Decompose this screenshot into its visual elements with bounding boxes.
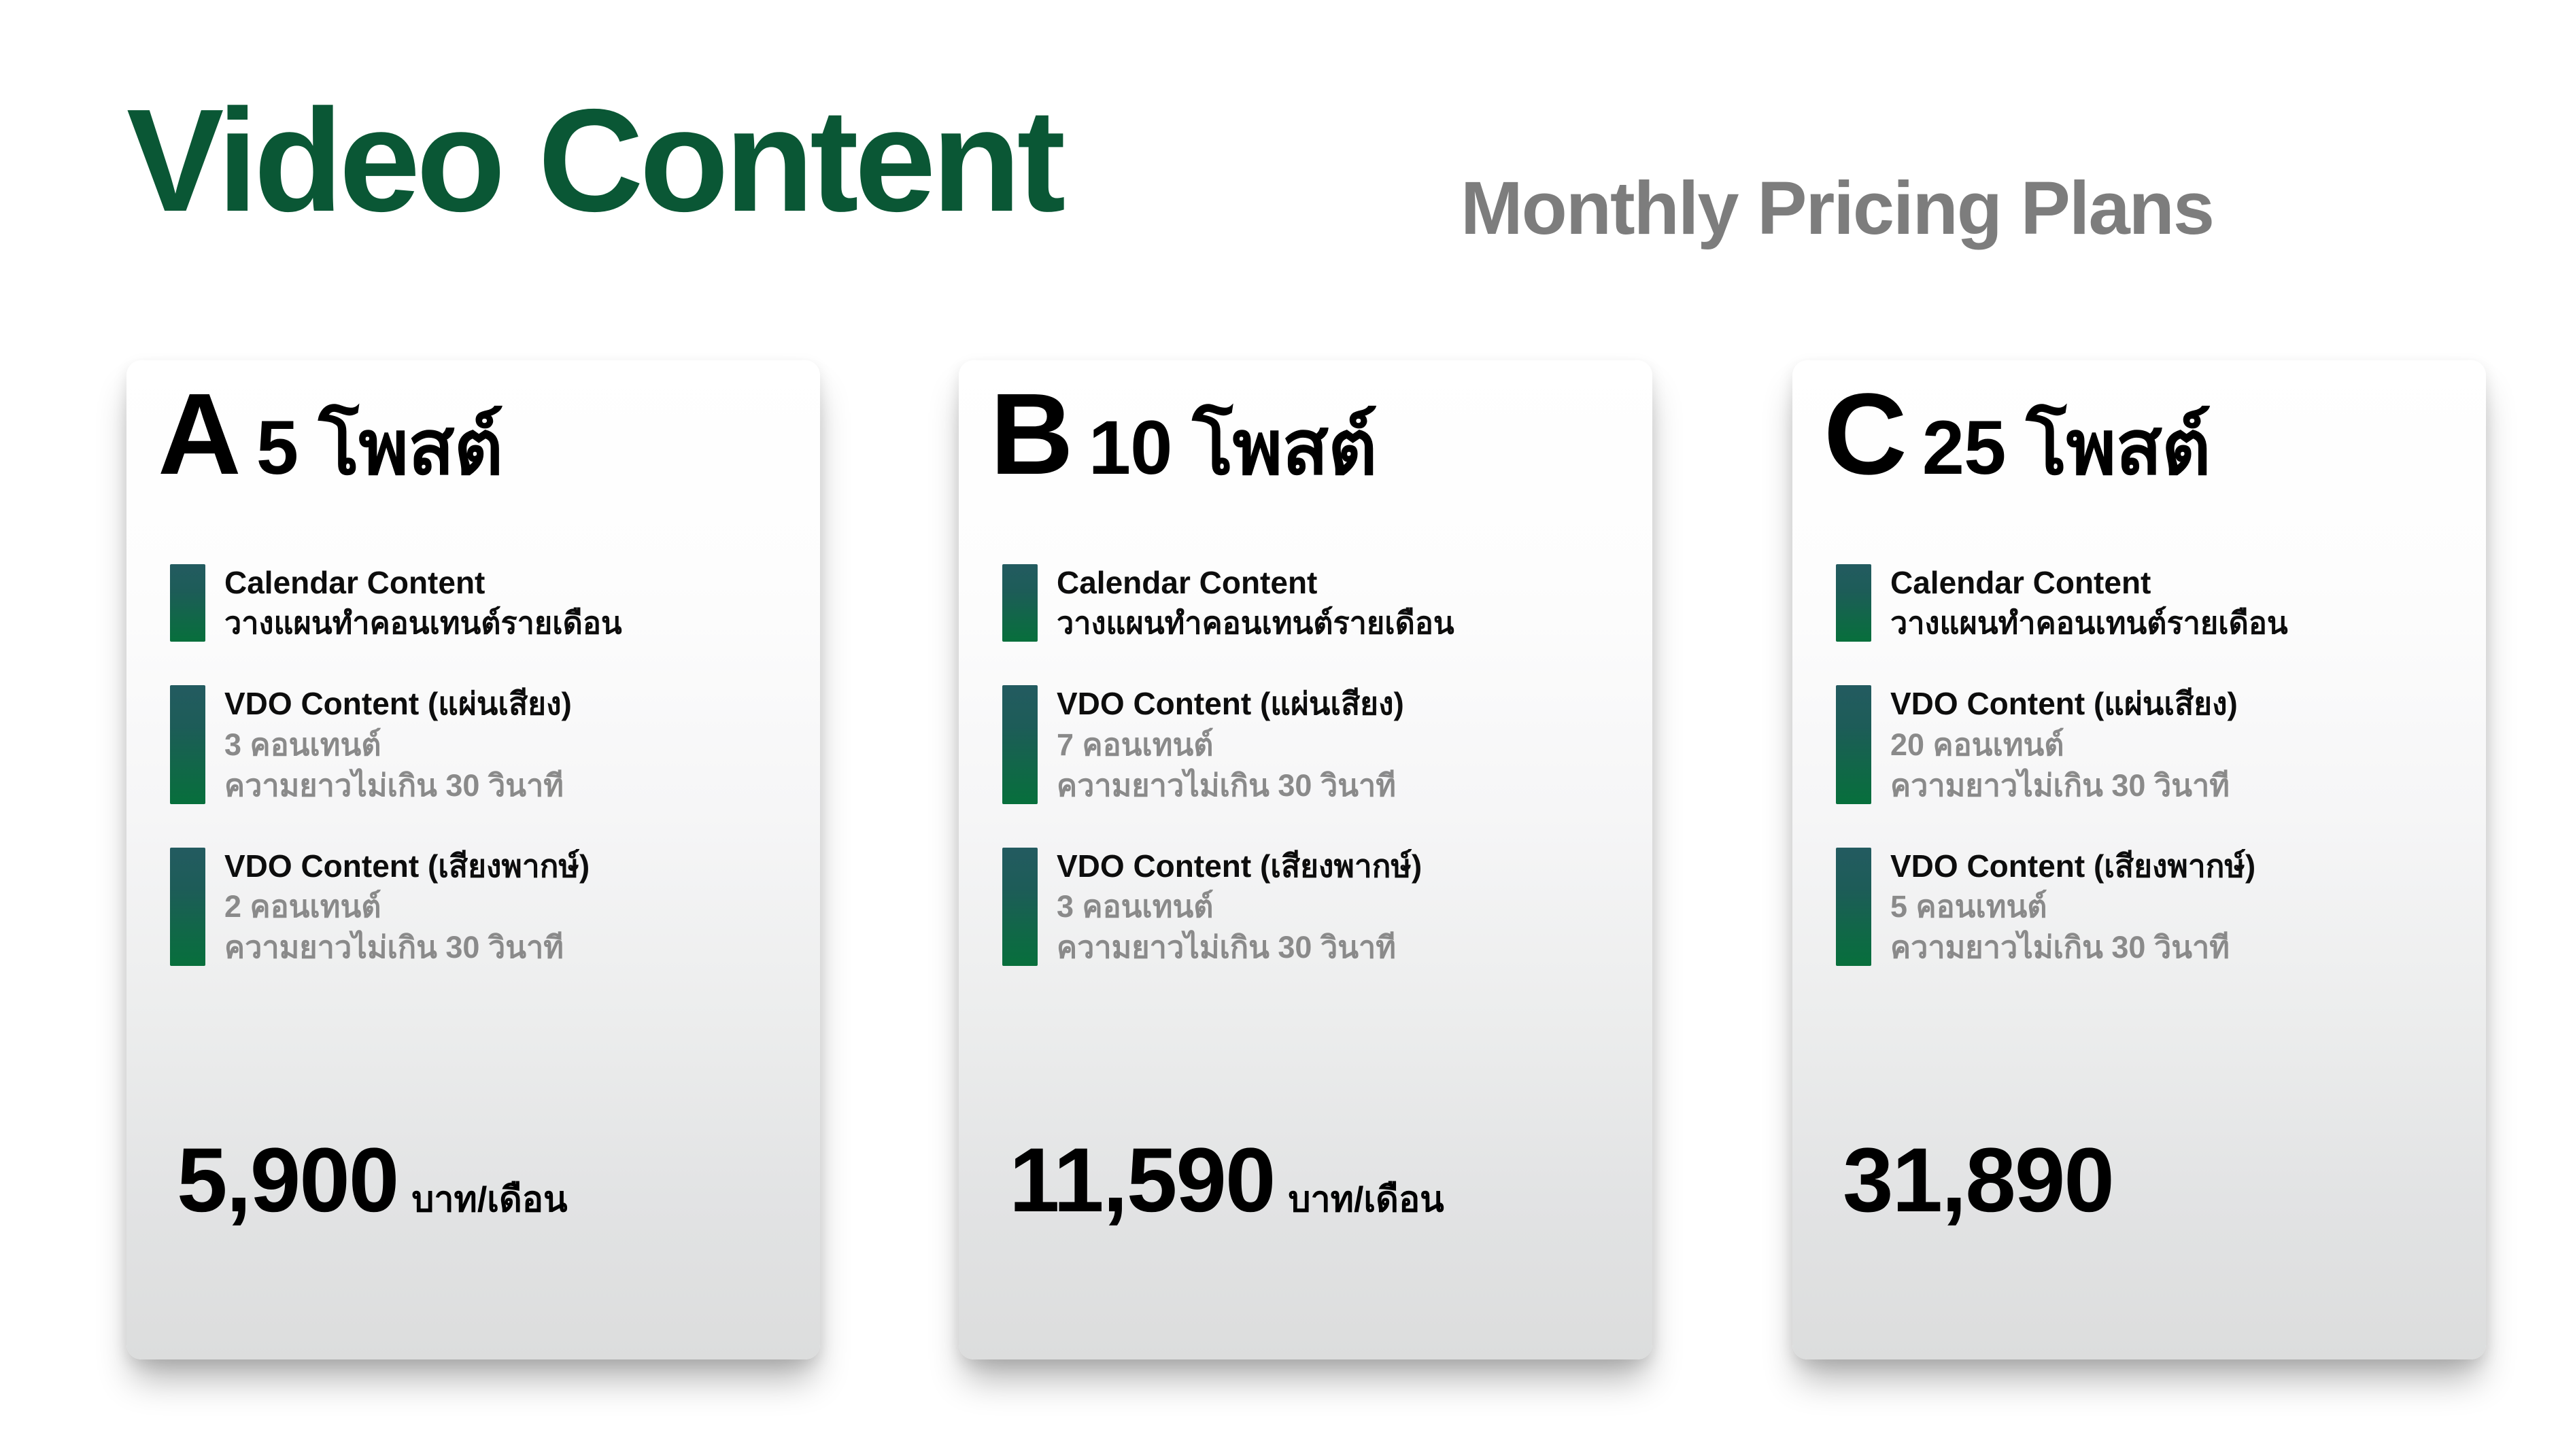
pricing-cards-row: A 5 โพสต์ Calendar Content วางแผนทำคอนเท… — [0, 360, 2556, 1366]
accent-bar-icon — [170, 848, 205, 966]
page-title: Video Content — [126, 87, 1061, 233]
card-c-features: Calendar Content วางแผนทำคอนเทนต์รายเดือ… — [1836, 564, 2448, 966]
feature-item: VDO Content (แผ่นเสียง) 3 คอนเทนต์ ความย… — [170, 685, 782, 803]
card-a-features: Calendar Content วางแผนทำคอนเทนต์รายเดือ… — [170, 564, 782, 966]
feature-title: Calendar Content — [224, 564, 622, 601]
accent-bar-icon — [1836, 848, 1871, 966]
feature-title: VDO Content (เสียงพากษ์) — [1890, 848, 2255, 884]
pricing-card-b[interactable]: B 10 โพสต์ Calendar Content วางแผนทำคอนเ… — [959, 360, 1652, 1359]
feature-detail: วางแผนทำคอนเทนต์รายเดือน — [1890, 605, 2288, 642]
price-amount: 11,590 — [1009, 1135, 1274, 1226]
feature-detail: ความยาวไม่เกิน 30 วินาที — [224, 929, 590, 966]
feature-detail: ความยาวไม่เกิน 30 วินาที — [1890, 929, 2255, 966]
card-b-features: Calendar Content วางแผนทำคอนเทนต์รายเดือ… — [1002, 564, 1614, 966]
feature-item: Calendar Content วางแผนทำคอนเทนต์รายเดือ… — [170, 564, 782, 642]
feature-detail: วางแผนทำคอนเทนต์รายเดือน — [1057, 605, 1454, 642]
feature-item: Calendar Content วางแผนทำคอนเทนต์รายเดือ… — [1002, 564, 1614, 642]
feature-text: VDO Content (แผ่นเสียง) 7 คอนเทนต์ ความย… — [1057, 685, 1404, 803]
page-header: Video Content Monthly Pricing Plans — [0, 0, 2556, 319]
feature-text: VDO Content (เสียงพากษ์) 3 คอนเทนต์ ความ… — [1057, 848, 1422, 966]
pricing-card-a[interactable]: A 5 โพสต์ Calendar Content วางแผนทำคอนเท… — [126, 360, 820, 1359]
feature-title: VDO Content (แผ่นเสียง) — [224, 685, 572, 722]
feature-item: VDO Content (เสียงพากษ์) 5 คอนเทนต์ ความ… — [1836, 848, 2448, 966]
feature-title: Calendar Content — [1890, 564, 2288, 601]
card-c-posts: 25 โพสต์ — [1922, 410, 2211, 486]
card-b-price: 11,590 บาท/เดือน — [1009, 1135, 1444, 1226]
feature-title: VDO Content (แผ่นเสียง) — [1057, 685, 1404, 722]
feature-item: VDO Content (เสียงพากษ์) 2 คอนเทนต์ ความ… — [170, 848, 782, 966]
feature-detail: 2 คอนเทนต์ — [224, 888, 590, 925]
feature-title: VDO Content (เสียงพากษ์) — [224, 848, 590, 884]
feature-detail: 5 คอนเทนต์ — [1890, 888, 2255, 925]
card-a-letter: A — [158, 377, 239, 492]
card-a-header: A 5 โพสต์ — [158, 377, 502, 492]
feature-item: VDO Content (แผ่นเสียง) 20 คอนเทนต์ ความ… — [1836, 685, 2448, 803]
feature-detail: 7 คอนเทนต์ — [1057, 727, 1404, 763]
feature-text: Calendar Content วางแผนทำคอนเทนต์รายเดือ… — [1890, 564, 2288, 642]
pricing-card-c[interactable]: C 25 โพสต์ Calendar Content วางแผนทำคอนเ… — [1792, 360, 2486, 1359]
card-c-header: C 25 โพสต์ — [1824, 377, 2211, 492]
price-unit: บาท/เดือน — [411, 1182, 567, 1217]
card-b-posts: 10 โพสต์ — [1089, 410, 1377, 486]
feature-text: Calendar Content วางแผนทำคอนเทนต์รายเดือ… — [224, 564, 622, 642]
accent-bar-icon — [1002, 685, 1038, 803]
card-b-letter: B — [990, 377, 1071, 492]
feature-text: VDO Content (เสียงพากษ์) 5 คอนเทนต์ ความ… — [1890, 848, 2255, 966]
accent-bar-icon — [170, 564, 205, 642]
feature-text: Calendar Content วางแผนทำคอนเทนต์รายเดือ… — [1057, 564, 1454, 642]
accent-bar-icon — [1836, 564, 1871, 642]
feature-detail: 20 คอนเทนต์ — [1890, 727, 2238, 763]
feature-item: Calendar Content วางแผนทำคอนเทนต์รายเดือ… — [1836, 564, 2448, 642]
feature-detail: ความยาวไม่เกิน 30 วินาที — [1057, 767, 1404, 804]
feature-text: VDO Content (แผ่นเสียง) 20 คอนเทนต์ ความ… — [1890, 685, 2238, 803]
price-amount: 5,900 — [177, 1135, 398, 1226]
page-subtitle: Monthly Pricing Plans — [1461, 171, 2213, 246]
feature-title: Calendar Content — [1057, 564, 1454, 601]
feature-detail: ความยาวไม่เกิน 30 วินาที — [1890, 767, 2238, 804]
accent-bar-icon — [1002, 848, 1038, 966]
accent-bar-icon — [170, 685, 205, 803]
feature-text: VDO Content (เสียงพากษ์) 2 คอนเทนต์ ความ… — [224, 848, 590, 966]
feature-detail: วางแผนทำคอนเทนต์รายเดือน — [224, 605, 622, 642]
feature-detail: ความยาวไม่เกิน 30 วินาที — [224, 767, 572, 804]
feature-item: VDO Content (เสียงพากษ์) 3 คอนเทนต์ ความ… — [1002, 848, 1614, 966]
price-unit: บาท/เดือน — [1288, 1182, 1444, 1217]
price-amount: 31,890 — [1843, 1135, 2113, 1226]
card-c-letter: C — [1824, 377, 1905, 492]
accent-bar-icon — [1002, 564, 1038, 642]
feature-detail: 3 คอนเทนต์ — [1057, 888, 1422, 925]
feature-detail: 3 คอนเทนต์ — [224, 727, 572, 763]
card-c-price: 31,890 — [1843, 1135, 2127, 1226]
card-b-header: B 10 โพสต์ — [990, 377, 1377, 492]
accent-bar-icon — [1836, 685, 1871, 803]
feature-title: VDO Content (แผ่นเสียง) — [1890, 685, 2238, 722]
card-a-posts: 5 โพสต์ — [256, 410, 502, 486]
card-a-price: 5,900 บาท/เดือน — [177, 1135, 568, 1226]
feature-detail: ความยาวไม่เกิน 30 วินาที — [1057, 929, 1422, 966]
feature-text: VDO Content (แผ่นเสียง) 3 คอนเทนต์ ความย… — [224, 685, 572, 803]
feature-title: VDO Content (เสียงพากษ์) — [1057, 848, 1422, 884]
feature-item: VDO Content (แผ่นเสียง) 7 คอนเทนต์ ความย… — [1002, 685, 1614, 803]
